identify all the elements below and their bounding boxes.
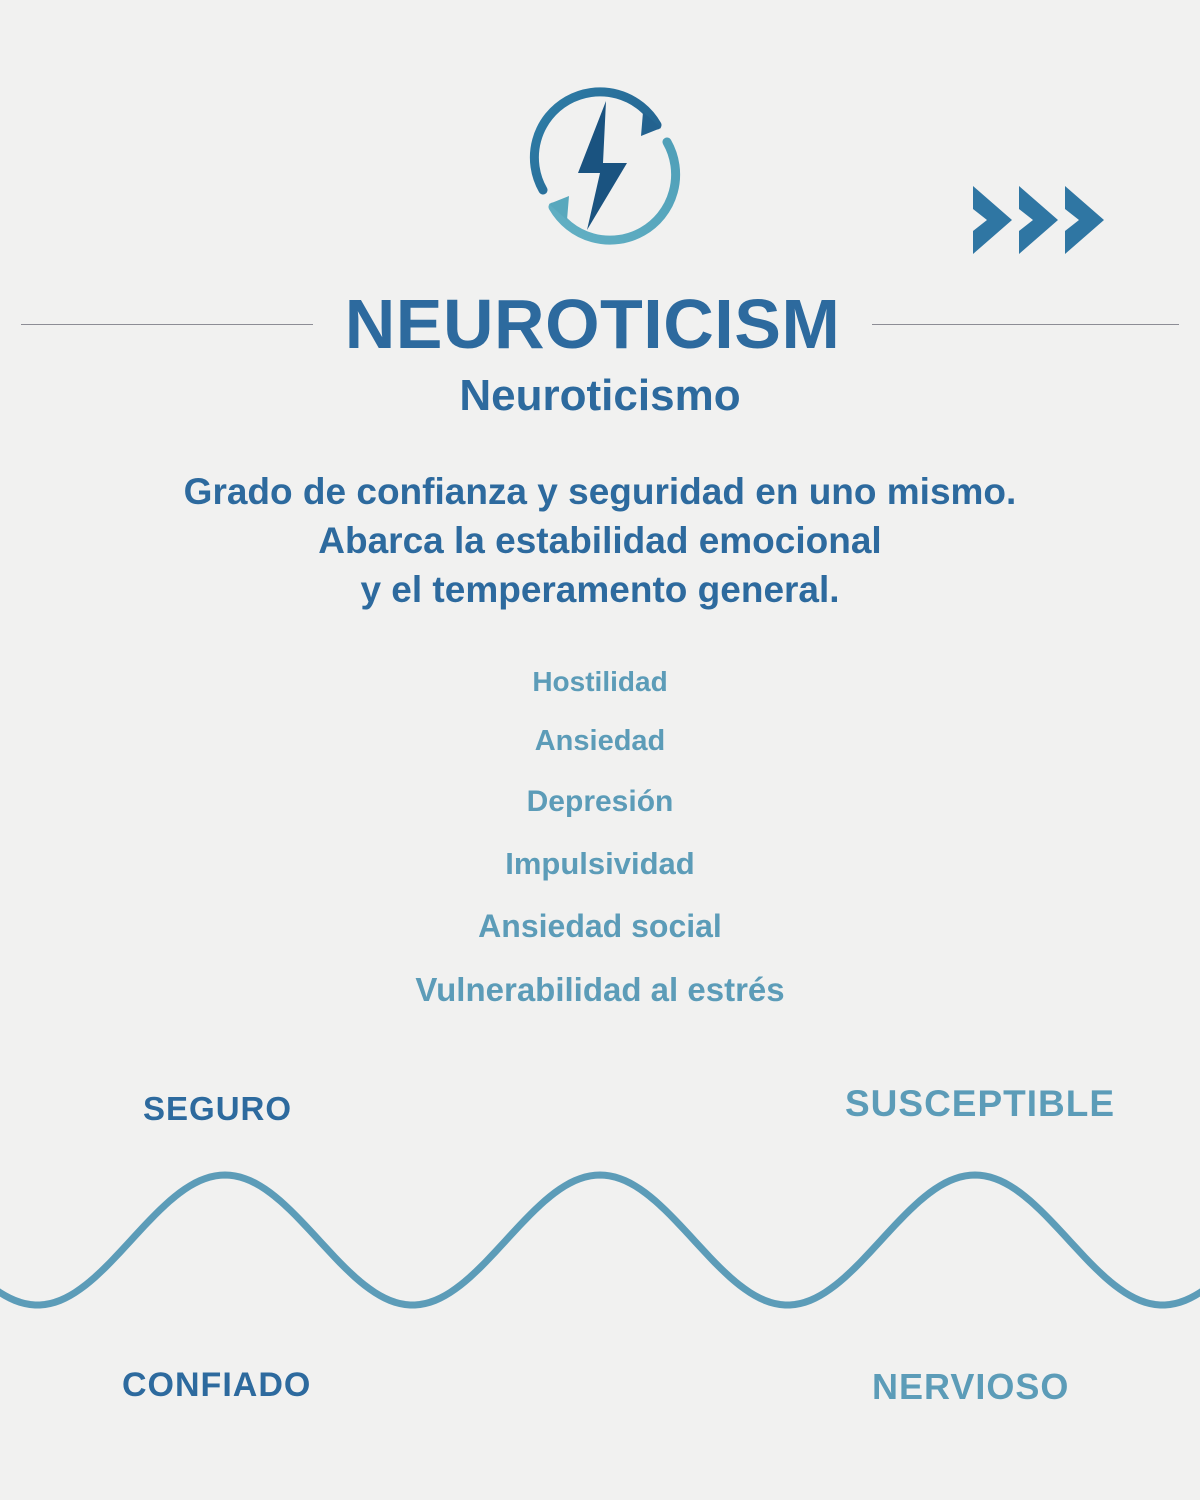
trait-item: Hostilidad (0, 668, 1200, 696)
spectrum-label-top-right: SUSCEPTIBLE (845, 1083, 1115, 1125)
description-block: Grado de confianza y seguridad en uno mi… (0, 468, 1200, 614)
page-subtitle: Neuroticismo (0, 372, 1200, 420)
page-title: NEUROTICISM (313, 289, 873, 359)
spectrum-label-top-left: SEGURO (143, 1090, 292, 1128)
description-line-1: Grado de confianza y seguridad en uno mi… (0, 468, 1200, 517)
trait-item: Vulnerabilidad al estrés (0, 973, 1200, 1006)
description-line-2: Abarca la estabilidad emocional (0, 517, 1200, 566)
trait-item: Ansiedad (0, 727, 1200, 756)
trait-item: Impulsividad (0, 848, 1200, 879)
infographic-page: NEUROTICISM Neuroticismo Grado de confia… (0, 0, 1200, 1500)
trait-item: Depresión (0, 787, 1200, 817)
spectrum-label-bottom-right: NERVIOSO (872, 1366, 1069, 1408)
spectrum-wave-chart (0, 1150, 1200, 1350)
description-line-3: y el temperamento general. (0, 566, 1200, 615)
divider-right (872, 324, 1179, 325)
triple-chevron-right-icon (965, 180, 1120, 260)
spectrum-label-bottom-left: CONFIADO (122, 1366, 311, 1405)
trait-list: Hostilidad Ansiedad Depresión Impulsivid… (0, 668, 1200, 1006)
divider-left (21, 324, 313, 325)
energy-refresh-icon (505, 70, 705, 260)
title-row: NEUROTICISM (0, 278, 1200, 370)
wave-line (0, 1175, 1200, 1305)
trait-item: Ansiedad social (0, 910, 1200, 942)
